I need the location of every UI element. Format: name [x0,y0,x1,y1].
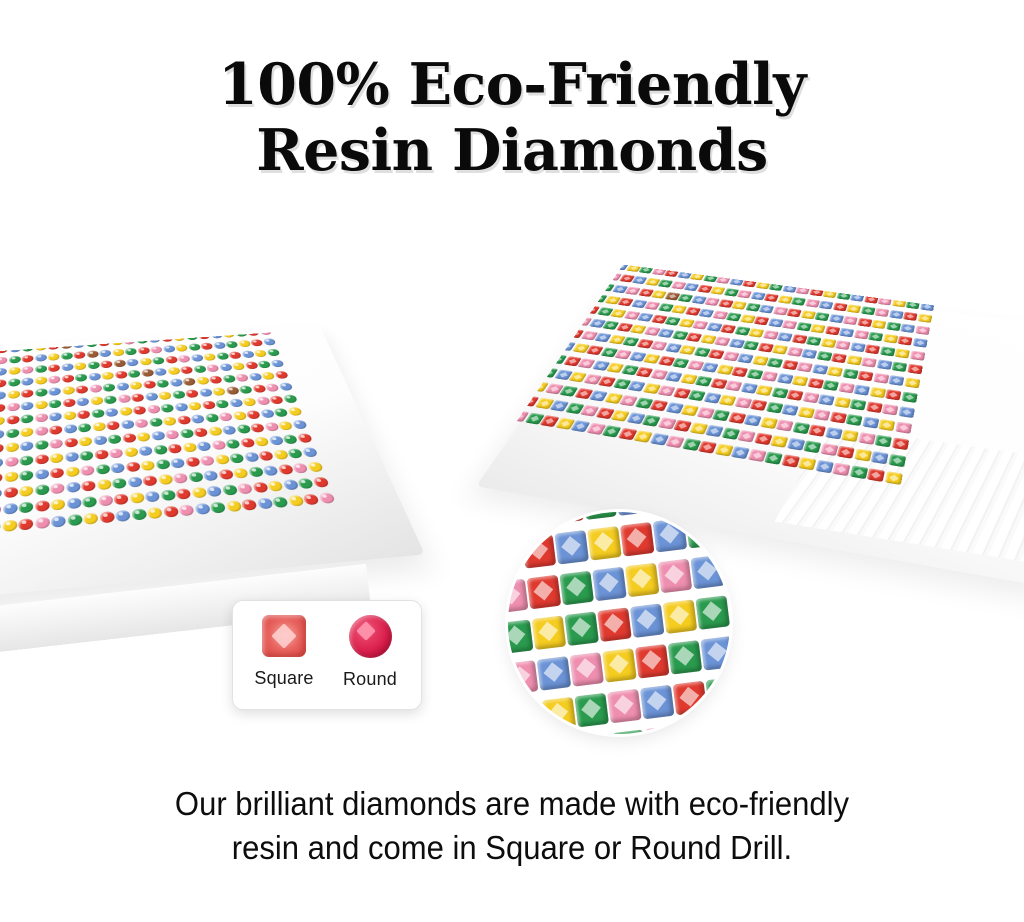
drill-bead [169,378,183,387]
drill-bead [889,310,904,319]
drill-bead [805,299,820,308]
drill-bead [138,446,153,456]
drill-bead [813,409,830,421]
drill-bead [90,396,103,405]
drill-bead [620,522,655,557]
drill-bead [160,404,174,413]
drill-bead [83,512,98,524]
drill-bead [835,340,851,350]
drill-bead [297,478,314,489]
drill-bead [810,324,826,334]
drill-bead [158,329,170,331]
drill-bead [19,485,33,497]
drill-bead [882,404,899,416]
drill-bead [114,371,127,379]
drill-bead [140,460,155,471]
drill-bead [156,379,169,388]
drill-bead [8,367,20,375]
drill-bead [874,308,889,317]
closeup-rows [508,512,730,734]
drill-bead [731,446,750,459]
drill-bead [35,388,47,397]
drill-bead [213,342,226,350]
drill-bead [891,437,908,450]
drill-bead [268,435,284,445]
legend-item-round[interactable]: Round [329,615,411,690]
drill-bead [318,492,336,504]
drill-bead [515,379,534,390]
drill-bead [273,449,289,459]
drill-bead [51,515,66,527]
drill-bead [791,334,807,344]
drill-bead [915,325,930,335]
drill-bead [764,451,783,464]
drill-bead [895,348,910,358]
drill-bead [175,344,188,352]
drill-bead [124,447,138,457]
drill-bead [173,473,188,484]
drill-bead [80,465,94,476]
drill-bead [912,338,927,348]
drill-bead [246,410,261,419]
drill-bead [508,660,538,695]
drill-bead [244,361,258,369]
drill-bead [141,369,154,377]
drill-bead [50,483,64,494]
drill-bead [188,471,204,482]
drill-bead [190,354,203,362]
drill-bead [20,414,33,424]
drill-bead [196,376,210,385]
drill-bead [525,365,544,376]
drill-bead [20,427,33,437]
drill-bead [62,386,75,395]
drill-bead [128,370,141,378]
drill-bead [67,514,82,526]
drill-bead [272,496,289,508]
drill-bead [904,377,920,388]
drill-bead [22,329,33,331]
legend-item-square[interactable]: Square [243,615,325,689]
drill-bead [0,379,6,388]
drill-bead [760,417,778,429]
drill-bead [750,399,768,411]
drill-bead [102,383,115,392]
drill-bead [74,362,86,370]
drill-bead [108,434,122,444]
drill-bead [204,413,219,422]
drill-bead [274,371,288,379]
drill-bead [857,272,871,280]
drill-bead [225,386,239,395]
drill-bead [35,329,46,330]
drill-bead [222,425,237,435]
drill-bead [120,420,134,430]
drill-bead [798,457,817,471]
drill-bead [612,729,647,734]
drill-bead [22,334,33,341]
drill-bead [277,464,293,475]
drill-bead [160,489,176,501]
infographic-canvas: 100% Eco-Friendly Resin Diamonds Square … [0,0,1024,922]
drill-bead [21,366,33,374]
drill-bead [804,265,818,273]
drill-bead [698,441,717,454]
drill-bead [222,374,236,382]
drill-bead [131,508,147,520]
drill-bead [212,387,226,396]
drill-bead [797,406,814,418]
page-title: 100% Eco-Friendly Resin Diamonds [0,52,1024,184]
drill-bead [235,374,249,382]
drill-bead [535,352,554,362]
drill-bead [708,265,723,272]
drill-bead [63,424,76,434]
drill-bead [898,406,915,418]
drill-bead [87,361,99,369]
drill-bead [266,349,280,357]
drill-bead [875,435,892,448]
drill-bead [82,496,97,508]
drill-bead [0,329,9,332]
drill-bead [4,471,18,482]
drill-bead [122,329,134,334]
drill-bead [645,725,680,734]
drill-bead [866,401,883,413]
drill-bead [868,332,883,342]
drill-bead [152,357,165,365]
drill-bead [516,335,534,345]
drill-bead [653,518,688,553]
drill-bead [683,265,698,269]
drill-bead [869,387,885,398]
drill-bead [178,504,194,516]
drill-bead [900,324,915,334]
drill-bead [812,364,828,375]
drill-bead [854,384,870,395]
drill-bead [122,433,136,443]
drill-bead [265,383,280,392]
drill-bead [139,358,152,366]
drill-bead [521,350,540,360]
drill-bead [9,335,21,342]
drill-bead [512,321,530,330]
drill-bead [133,406,147,415]
drill-bead [0,416,5,426]
drill-bead [2,503,17,515]
drill-bead [270,359,284,367]
drill-bead [282,394,297,403]
drill-bead [561,315,578,324]
drill-bead [21,401,34,410]
drill-bead [97,329,109,336]
drill-bead [582,512,617,519]
drill-bead [0,391,6,400]
drill-bead [556,266,572,274]
drill-bead [79,450,93,461]
drill-bead [587,526,622,561]
drill-bead [867,284,881,292]
drill-bead [200,342,213,350]
drill-bead [846,304,861,313]
drill-bead [781,454,800,467]
drill-bead [112,478,127,489]
drill-bead [832,302,847,311]
drill-bead [137,347,150,355]
drill-bead [48,387,60,396]
drill-bead [193,365,206,373]
drill-bead [8,356,20,364]
drill-bead [127,476,142,487]
drill-bead [5,428,18,438]
drill-bead [773,272,788,280]
drill-bead [273,408,288,417]
drill-bead [782,320,798,329]
drill-bead [2,519,17,532]
drill-bead [884,471,902,485]
drill-bead [109,329,121,335]
drill-bead [725,380,743,391]
drill-bead [94,449,108,459]
drill-bead [548,313,565,322]
drill-bead [871,451,889,464]
drill-bead [505,376,520,387]
drill-bead [7,402,20,411]
drill-bead [744,414,762,426]
drill-bead [840,281,854,289]
drill-bead [813,277,827,285]
drill-bead [734,267,749,275]
drill-bead [75,385,88,394]
drill-bead [76,397,89,406]
drill-bead [700,636,730,671]
drill-bead [242,397,257,406]
drill-bead [10,329,21,331]
drill-bead [663,599,698,634]
drill-bead [553,327,571,337]
drill-bead [252,384,266,393]
drill-bead [854,448,872,461]
drill-bead [131,393,144,402]
drill-bead [850,399,867,411]
drill-bead [129,492,144,504]
drill-bead [180,366,193,374]
drill-bead [282,434,298,444]
drill-bead [109,448,123,458]
drill-bead [153,445,168,455]
drill-bead [19,470,33,481]
drill-bead [509,700,544,734]
drill-bead [743,340,759,350]
drill-bead [201,400,215,409]
drill-bead [806,336,822,346]
drill-bead [809,288,824,297]
drill-bead [547,276,564,284]
drill-bead [573,280,589,288]
drill-bead [0,521,1,534]
drill-bead [35,354,47,362]
drill-bead [218,469,234,480]
drill-bead [878,419,895,431]
drill-bead [885,389,901,400]
drill-bead [791,297,806,306]
drill-bead [817,267,831,275]
drill-bead [0,488,2,500]
drill-bead [845,414,862,426]
drill-bead [565,290,582,299]
drill-bead [50,453,64,464]
drill-bead [796,322,812,331]
drill-bead [269,395,284,404]
drill-bead [106,421,120,431]
drill-bead [607,688,642,723]
drill-bead [718,394,736,406]
drill-bead [830,268,844,276]
drill-bead [35,440,48,450]
drill-bead [142,475,157,486]
drill-bead [21,377,33,386]
drill-bead [578,292,595,301]
drill-bead [721,265,736,273]
drill-bead [846,355,862,365]
drill-bead [597,607,632,642]
drill-bead [865,344,881,354]
drill-bead [860,265,874,270]
drill-bead [151,431,165,441]
drill-bead [110,463,125,474]
drill-bead [163,506,179,518]
drill-bead [791,265,805,272]
drill-bead [752,265,767,267]
drill-bead [183,329,196,330]
drill-bead [731,301,747,310]
drill-bead [776,373,793,384]
drill-bead [539,287,556,296]
drill-bead [177,415,191,425]
drill-bead [673,680,708,715]
drill-bead [35,413,48,422]
drill-bead [737,430,756,443]
drill-bead [4,456,18,467]
drill-bead [843,316,858,325]
drill-bead [260,409,275,418]
drill-bead [853,330,868,340]
drill-bead [210,502,227,514]
drill-bead [574,692,609,727]
drill-bead [225,341,238,349]
drill-bead [924,280,938,288]
drill-bead [95,464,109,475]
drill-bead [287,448,303,458]
drill-bead [92,422,106,432]
drill-bead [867,468,885,482]
drill-bead [505,333,521,343]
drill-bead [35,500,49,512]
drill-bead [229,453,245,464]
drill-bead [243,452,259,463]
drill-bead [119,407,133,416]
drill-bead [792,422,810,434]
drill-bead [886,322,901,331]
drill-bead [873,373,889,384]
drill-bead [50,468,64,479]
drill-bead [592,566,627,601]
drill-bead [126,358,139,366]
drill-bead [557,301,574,310]
drill-bead [737,290,752,299]
drill-bead [802,392,819,403]
drill-bead [527,574,562,609]
drill-bead [871,320,886,329]
drill-bead [179,429,194,439]
drill-bead [911,279,925,287]
drill-bead [3,487,17,499]
drill-bead [8,378,20,387]
drill-bead [73,351,85,359]
drill-bead [196,441,211,451]
drill-bead [710,717,730,734]
drill-bead [726,312,742,321]
drill-bead [761,371,778,382]
drill-bead [146,329,158,332]
drill-bead [505,408,515,420]
drill-bead [0,357,7,365]
drill-bead [508,578,528,613]
drill-bead [907,364,923,375]
drill-bead [827,366,843,377]
drill-bead [209,375,223,383]
drill-bead [232,411,247,420]
drill-bead [238,385,252,394]
drill-bead [747,269,762,277]
drill-bead [554,530,589,565]
drill-bead [282,479,299,490]
drill-bead [163,345,176,353]
drill-bead [569,652,604,687]
drill-bead [144,392,158,401]
drill-bead [236,424,251,434]
drill-bead [20,441,33,451]
drill-bead [897,277,911,285]
drill-bead [49,412,62,421]
drill-bead [258,451,274,462]
drill-bead [808,424,826,436]
drill-bead [61,363,73,371]
drill-bead [535,311,553,320]
drill-bead [549,512,584,523]
drill-bead [508,538,523,573]
drill-bead [62,398,75,407]
square-drill-closeup [508,512,730,734]
drill-bead [818,394,835,406]
drill-bead [171,329,183,331]
drill-bead [278,421,294,431]
drill-bead [0,443,4,453]
drill-bead [185,457,200,468]
drill-bead [254,437,270,447]
drill-bead [602,648,637,683]
drill-bead [60,331,72,338]
drill-bead [93,435,107,445]
drill-bead [772,345,788,355]
drill-bead [188,402,202,411]
drill-bead [559,570,594,605]
drill-bead [847,265,861,268]
drill-bead [861,357,877,367]
drill-bead [154,368,167,376]
drill-bead [155,459,170,470]
drill-bead [113,359,126,367]
